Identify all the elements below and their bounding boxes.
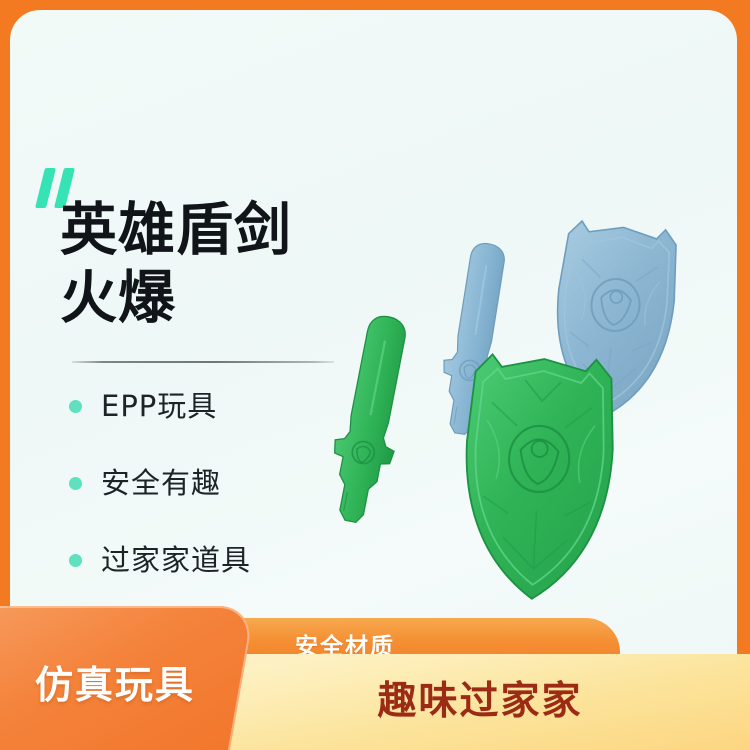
list-item-label: 安全有趣 (101, 466, 221, 500)
poster-root: 英雄盾剑 火爆 EPP玩具 安全有趣 过家家道具 (0, 0, 750, 750)
bullet-dot-icon (69, 554, 82, 567)
headline-line-1: 英雄盾剑 (60, 197, 292, 263)
brand-tab-label: 仿真玩具 (0, 654, 242, 709)
list-item-label: EPP玩具 (101, 389, 217, 423)
bullet-dot-icon (69, 400, 82, 413)
bullet-dot-icon (69, 477, 82, 490)
product-image (295, 185, 737, 640)
list-item-label: 过家家道具 (101, 543, 251, 577)
footer-panel-label: 趣味过家家 (270, 670, 690, 726)
brand-tab: 仿真玩具 (0, 606, 255, 750)
